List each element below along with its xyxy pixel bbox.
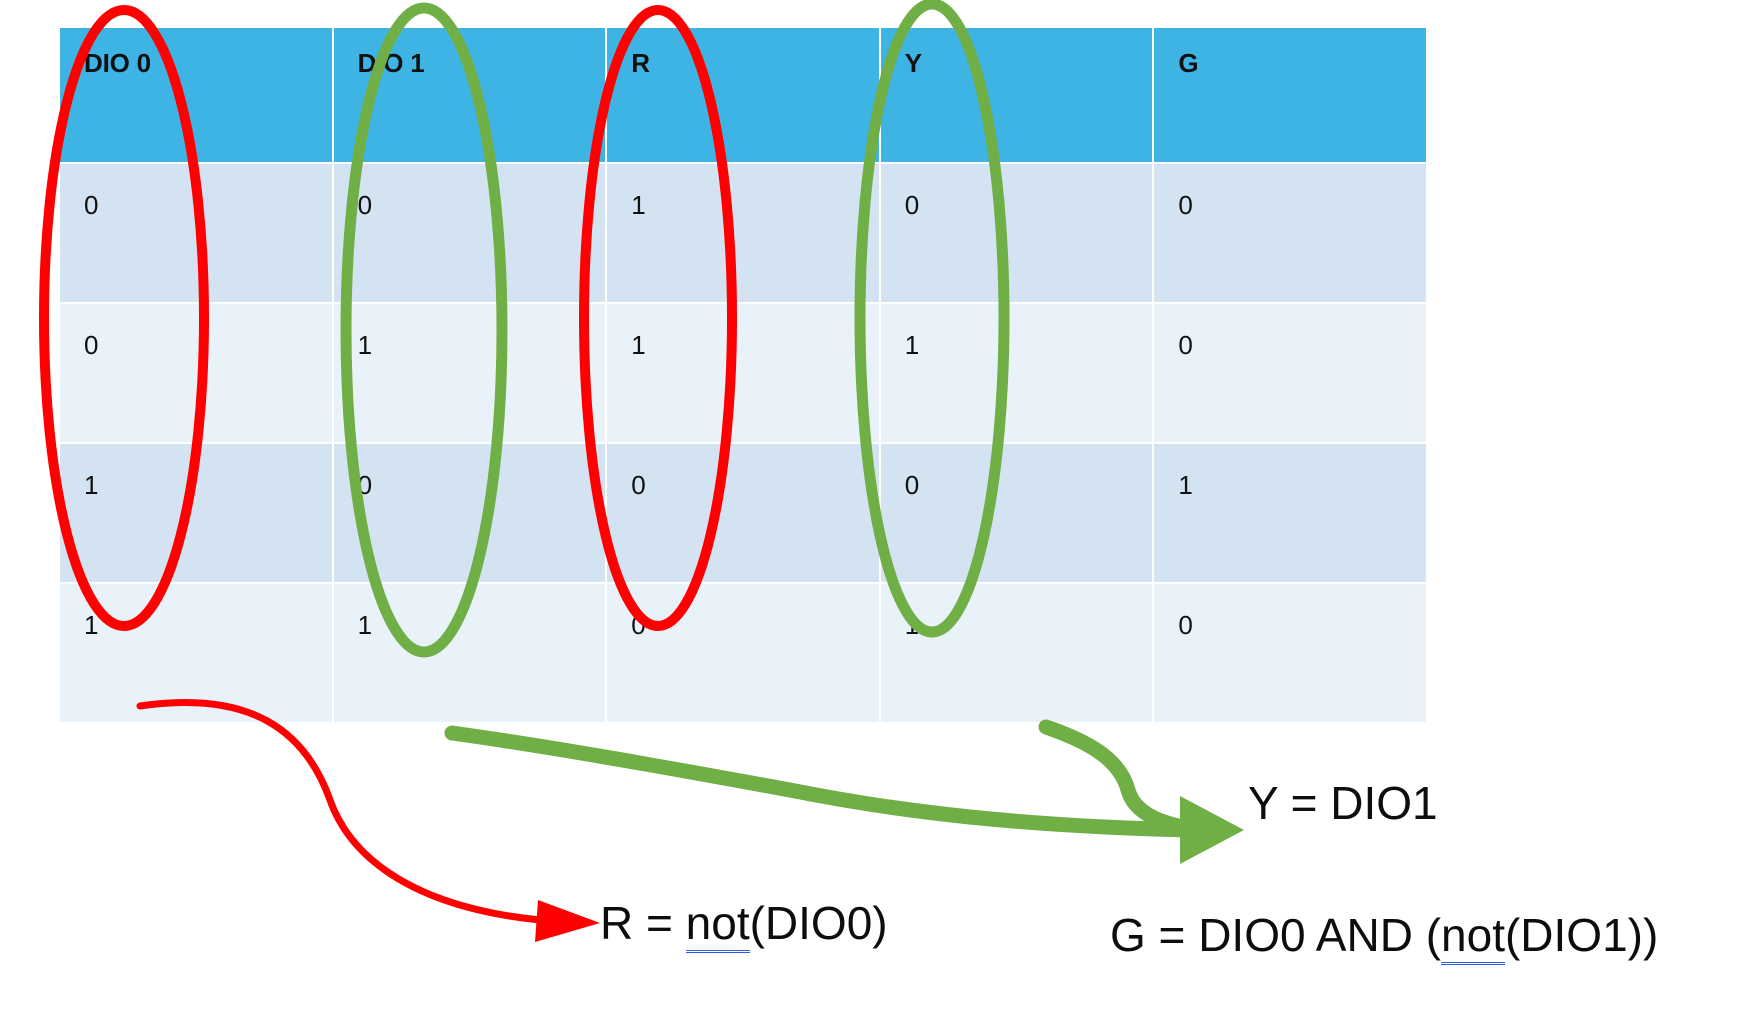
green-arrow-from-y-icon [1046,727,1196,829]
column-header-r: R [607,28,879,162]
r-equation-prefix: R = [600,897,686,949]
table-header-row: DIO 0 DIO 1 R Y G [60,28,1426,162]
column-header-g: G [1154,28,1426,162]
table-row: 1 1 0 1 0 [60,584,1426,722]
green-arrowhead-icon [1180,796,1244,864]
cell-g: 0 [1154,584,1426,722]
cell-y: 1 [881,584,1153,722]
y-equation: Y = DIO1 [1248,780,1438,826]
cell-dio0: 0 [60,304,332,442]
cell-dio0: 0 [60,164,332,302]
r-equation-spellcheck-word: not [686,897,750,953]
column-header-dio0: DIO 0 [60,28,332,162]
table-body: 0 0 1 0 0 0 1 1 1 0 1 0 0 0 1 1 [60,164,1426,722]
table-row: 0 0 1 0 0 [60,164,1426,302]
red-arrowhead-icon [535,900,600,942]
truth-table: DIO 0 DIO 1 R Y G 0 0 1 0 0 0 1 1 1 0 [58,26,1428,724]
cell-r: 1 [607,304,879,442]
cell-g: 1 [1154,444,1426,582]
y-equation-text: Y = DIO1 [1248,777,1438,829]
r-equation-suffix: (DIO0) [750,897,888,949]
g-equation-suffix: (DIO1)) [1505,909,1658,961]
cell-r: 1 [607,164,879,302]
table-row: 0 1 1 1 0 [60,304,1426,442]
column-header-dio1: DIO 1 [334,28,606,162]
r-equation: R = not(DIO0) [600,900,888,946]
red-arrow-to-r-equation-icon [140,702,540,920]
cell-dio0: 1 [60,584,332,722]
cell-y: 1 [881,304,1153,442]
cell-y: 0 [881,444,1153,582]
g-equation-spellcheck-word: not [1441,909,1505,965]
cell-dio1: 1 [334,304,606,442]
cell-r: 0 [607,444,879,582]
cell-dio0: 1 [60,444,332,582]
cell-dio1: 0 [334,444,606,582]
g-equation-prefix: G = DIO0 AND ( [1110,909,1441,961]
g-equation: G = DIO0 AND (not(DIO1)) [1110,912,1658,958]
cell-r: 0 [607,584,879,722]
cell-g: 0 [1154,164,1426,302]
cell-dio1: 1 [334,584,606,722]
green-arrow-from-dio1-icon [452,733,1190,830]
table-header: DIO 0 DIO 1 R Y G [60,28,1426,162]
table-row: 1 0 0 0 1 [60,444,1426,582]
column-header-y: Y [881,28,1153,162]
cell-g: 0 [1154,304,1426,442]
cell-dio1: 0 [334,164,606,302]
cell-y: 0 [881,164,1153,302]
slide-canvas: DIO 0 DIO 1 R Y G 0 0 1 0 0 0 1 1 1 0 [0,0,1756,1027]
